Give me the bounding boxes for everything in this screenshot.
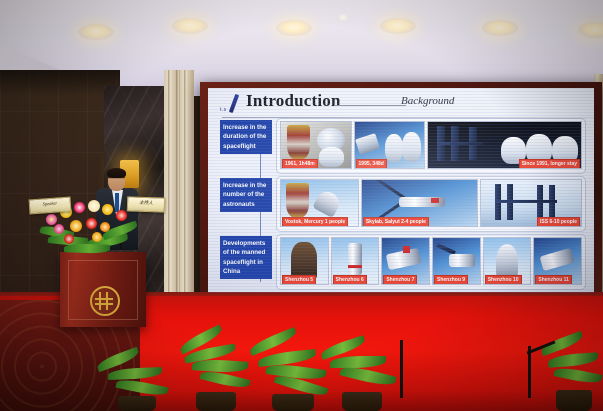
thumb-vostok-mercury: Vostok, Mercury 1 people: [280, 179, 359, 227]
thumb-shenzhou-6: Shenzhou 6: [331, 237, 380, 285]
thumb-shenzhou-7: Shenzhou 7: [381, 237, 430, 285]
palm-frond: [548, 352, 599, 367]
flower-bloom-12: [64, 234, 74, 244]
projection-screen: t.s Introduction Background Increase in …: [208, 88, 594, 293]
plant-pot: [196, 392, 236, 411]
placard-speaker: Speaker: [29, 197, 72, 215]
emblem-bar-v1: [99, 292, 101, 310]
flower-bloom-9: [86, 218, 97, 229]
thumb-caption: Vostok, Mercury 1 people: [282, 217, 348, 227]
palm-frond: [108, 367, 162, 380]
thumb-shenzhou-5: Shenzhou 5: [280, 237, 329, 285]
flower-bloom-1: [46, 214, 57, 225]
thumb-caption: Skylab, Salyut 2-4 people: [363, 217, 429, 227]
thumb-caption: Shenzhou 5: [282, 275, 316, 285]
slide-row-china: Developments of the manned spaceflight i…: [220, 234, 586, 288]
flower-bloom-11: [112, 224, 123, 235]
palm-leaf-5: [64, 243, 110, 254]
plant-pot: [272, 394, 314, 411]
row-thumbnails: Shenzhou 5 Shenzhou 6 Shenzhou 7: [280, 237, 582, 285]
thumb-shenzhou-10: Shenzhou 10: [483, 237, 532, 285]
docking-module-icon: [449, 254, 475, 268]
ceiling-downlight-1: [78, 24, 114, 40]
slide-title: Introduction: [246, 91, 341, 111]
conference-hall-photo: t.s Introduction Background Increase in …: [0, 0, 603, 411]
stage-equipment-stand-1: [400, 340, 403, 398]
palm-frond: [192, 358, 249, 374]
row-label-astronauts: Increase in the number of the astronauts: [220, 178, 272, 212]
palm-frond: [258, 349, 317, 367]
flower-bloom-6: [116, 210, 127, 221]
speaker-hair: [107, 168, 126, 178]
placard-host: 主持人: [127, 196, 166, 212]
thumb-caption: 1995, 348d: [356, 159, 387, 169]
thumb-shenzhou-9: Shenzhou 9: [432, 237, 481, 285]
speaker-podium: [60, 252, 146, 327]
placard-host-label: 主持人: [128, 197, 164, 207]
potted-palm-4: [96, 352, 174, 411]
iss-truss-icon: [495, 200, 557, 203]
logo-subtext: t.s: [220, 107, 226, 113]
reentry-capsule-icon: [496, 244, 518, 278]
flower-bloom-10: [100, 222, 110, 232]
slide-row-duration: Increase in the duration of the spacefli…: [220, 118, 586, 172]
astronaut-b-icon: [402, 132, 421, 162]
palm-frond: [553, 365, 602, 386]
station-marker-icon: [431, 198, 439, 202]
row-thumbnails: 1961, 1h48m 1995, 348d: [280, 121, 582, 169]
thumb-caption: ISS 6-10 people: [537, 217, 580, 227]
wall-shadow: [0, 70, 120, 96]
flower-bloom-8: [70, 220, 82, 232]
mission-emblem-icon: [286, 183, 309, 218]
potted-palm-1: [178, 326, 258, 411]
logo-slash-icon: [229, 94, 239, 113]
emblem-bar-h2: [95, 303, 113, 305]
podium-gold-emblem-icon: [90, 286, 120, 316]
thumb-iss-longstay: Since 1991, longer stay: [427, 121, 582, 169]
thumb-caption: Shenzhou 11: [535, 275, 572, 285]
ceiling-downlight-4: [380, 18, 416, 34]
row-thumbnails: Vostok, Mercury 1 people Skylab, Salyut …: [280, 179, 582, 227]
thumb-1961-vostok: 1961, 1h48m: [280, 121, 352, 169]
plant-pot: [118, 396, 156, 411]
ceiling-downlight-5: [482, 20, 518, 36]
palm-frond: [330, 356, 386, 368]
ceiling-downlight-2: [172, 18, 208, 34]
thumb-shenzhou-11: Shenzhou 11: [533, 237, 582, 285]
cosmonaut-suit-icon: [319, 147, 344, 167]
thumb-caption: Shenzhou 10: [485, 275, 522, 285]
thumb-skylab-salyut: Skylab, Salyut 2-4 people: [361, 179, 478, 227]
flower-bloom-4: [88, 200, 100, 212]
thumb-iss-crew-size: ISS 6-10 people: [480, 179, 582, 227]
launch-tower-icon: [291, 242, 317, 280]
plant-pot: [342, 392, 382, 411]
slide-subtitle: Background: [401, 95, 454, 107]
thumb-caption: Shenzhou 9: [434, 275, 468, 285]
rocket-flag-icon: [348, 265, 362, 269]
truss-icon: [437, 142, 483, 144]
header-rule: [334, 105, 406, 106]
thumb-caption: 1961, 1h48m: [282, 159, 318, 169]
rocket-body-icon: [348, 243, 362, 275]
slide-header: t.s Introduction Background: [216, 92, 586, 118]
ceiling-downlight-3: [276, 20, 312, 36]
placard-speaker-label: Speaker: [30, 198, 71, 210]
emblem-bar-v2: [106, 292, 108, 310]
flower-bloom-3: [74, 202, 85, 213]
thumb-caption: Shenzhou 7: [383, 275, 417, 285]
china-flag-icon: [403, 246, 410, 252]
row-label-duration: Increase in the duration of the spacefli…: [220, 120, 272, 154]
thumb-caption: Since 1991, longer stay: [519, 159, 580, 169]
astronaut-a-icon: [385, 134, 403, 163]
slide-row-astronauts: Increase in the number of the astronauts…: [220, 176, 586, 230]
thumb-1995-shuttle: 1995, 348d: [354, 121, 426, 169]
flower-bloom-13: [92, 232, 102, 242]
emblem-bar-h1: [95, 298, 113, 300]
row-label-china: Developments of the manned spaceflight i…: [220, 236, 272, 279]
potted-palm-3: [320, 340, 400, 411]
smoke-detector-icon: [337, 14, 349, 22]
thumb-caption: Shenzhou 6: [333, 275, 367, 285]
flower-bloom-7: [54, 224, 64, 234]
mission-emblem-icon: [287, 125, 311, 160]
plant-pot: [556, 390, 592, 411]
flower-bloom-5: [102, 204, 113, 215]
